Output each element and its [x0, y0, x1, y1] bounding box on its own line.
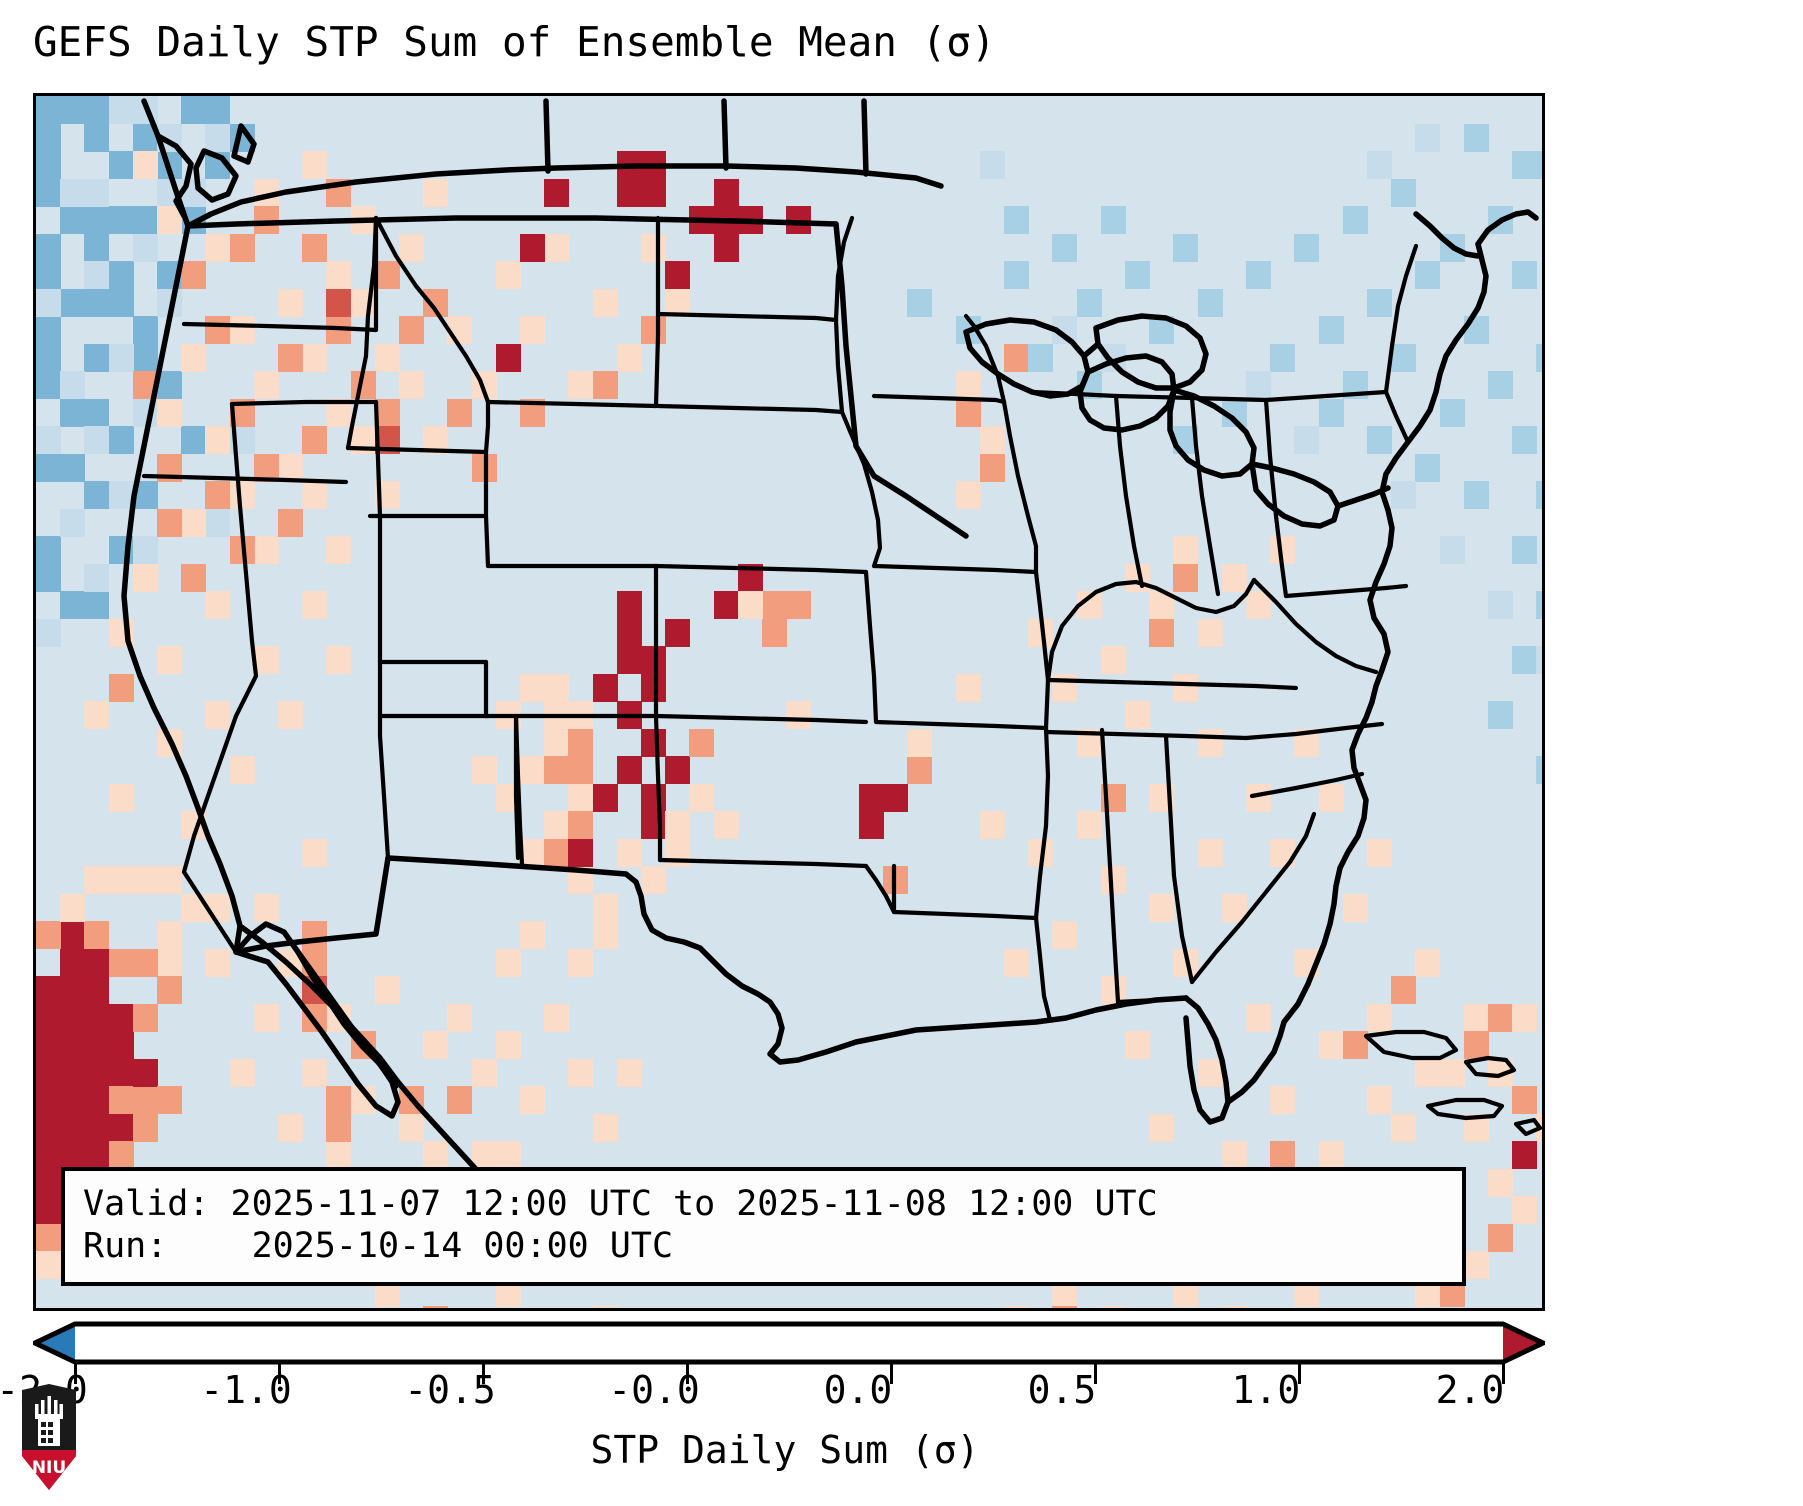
page-title: GEFS Daily STP Sum of Ensemble Mean (σ) — [33, 18, 996, 66]
colorbar-tick-label: -0.0 — [608, 1368, 700, 1412]
valid-time-line: Valid: 2025-11-07 12:00 UTC to 2025-11-0… — [83, 1183, 1444, 1226]
colorbar-tick-label: 1.0 — [1232, 1368, 1301, 1412]
map-panel[interactable]: Valid: 2025-11-07 12:00 UTC to 2025-11-0… — [33, 93, 1545, 1311]
map-geography-overlay — [36, 96, 1542, 1308]
valid-run-info-box: Valid: 2025-11-07 12:00 UTC to 2025-11-0… — [61, 1167, 1466, 1286]
colorbar-tick-label: -1.0 — [200, 1368, 292, 1412]
colorbar-tick-label: 2.0 — [1436, 1368, 1505, 1412]
colorbar-axis-label: STP Daily Sum (σ) — [0, 1428, 1570, 1472]
colorbar-tick-labels: -2.0-1.0-0.5-0.00.00.51.02.0 — [0, 1368, 1512, 1418]
colorbar-tick-label: 0.5 — [1028, 1368, 1097, 1412]
colorbar-tick-label: 0.0 — [824, 1368, 893, 1412]
niu-logo-text: NIU — [32, 1458, 66, 1478]
colorbar-gradient[interactable] — [33, 1318, 1545, 1370]
colorbar-tick-label: -0.5 — [404, 1368, 496, 1412]
model-run-line: Run: 2025-10-14 00:00 UTC — [83, 1225, 1444, 1268]
niu-shield-logo: NIU — [18, 1384, 80, 1490]
